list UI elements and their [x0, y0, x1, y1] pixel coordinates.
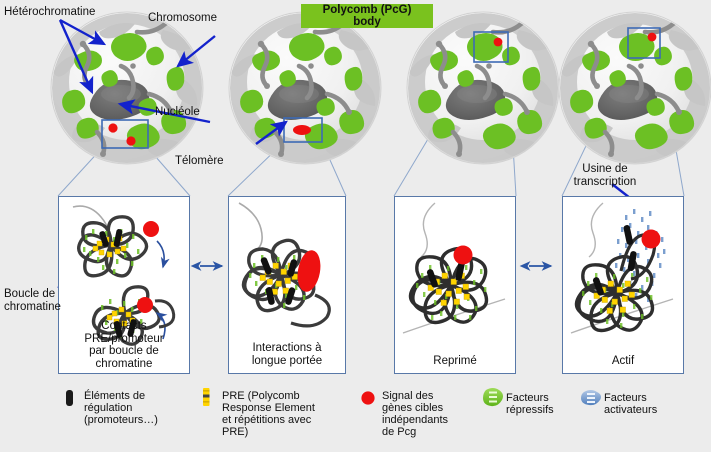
red-signal-dot	[648, 33, 657, 42]
label-telomere: Télomère	[175, 155, 224, 168]
panel-4-caption: Actif	[563, 355, 683, 368]
red-signal-ellipse	[293, 125, 311, 135]
rosette-upper	[79, 217, 147, 276]
label-polycomb-body: Polycomb (PcG) body	[301, 4, 433, 28]
label-chromosome: Chromosome	[148, 12, 217, 25]
panel-1-caption: Contacts PRE/promoteur par boucle de chr…	[59, 320, 189, 370]
panel-long-range-interactions[interactable]: Interactions à longue portée	[228, 196, 346, 374]
panel-repressed[interactable]: Reprimé	[394, 196, 516, 374]
legend-label-activating: Facteurs activateurs	[604, 392, 657, 416]
panel-2-caption: Interactions à longue portée	[229, 342, 345, 367]
red-signal-dot	[143, 221, 159, 237]
yellow-bar-icon	[203, 388, 210, 406]
legend-label-pre: PRE (Polycomb Response Element et répéti…	[222, 390, 315, 438]
blue-factor-icon	[581, 390, 601, 405]
red-signal-dot	[126, 136, 135, 145]
panel-4-graphic	[563, 197, 683, 373]
legend-label-signal: Signal des gènes cibles indépendants de …	[382, 390, 448, 438]
legend-label-repressive: Facteurs répressifs	[506, 392, 554, 416]
label-nucleole: Nucléole	[155, 106, 200, 119]
red-signal-dot	[642, 230, 661, 249]
nucleus-heterochromatin[interactable]	[51, 12, 203, 164]
rosette	[410, 249, 486, 323]
red-signal-dot	[454, 246, 473, 265]
nucleus-transcription-factory[interactable]	[559, 12, 711, 164]
legend: Éléments de régulation (promoteurs…) PRE…	[0, 380, 711, 452]
panel-3-graphic	[395, 197, 515, 373]
figure-canvas: Contacts PRE/promoteur par boucle de chr…	[0, 0, 711, 452]
rosette	[576, 257, 652, 331]
red-signal-dot	[494, 38, 503, 47]
panel-active[interactable]: Actif	[562, 196, 684, 374]
legend-label-regulatory: Éléments de régulation (promoteurs…)	[84, 390, 158, 426]
nucleus-pcg-body[interactable]	[407, 12, 559, 164]
green-factor-icon	[483, 388, 503, 406]
red-signal-dot	[137, 297, 153, 313]
black-bar-icon	[66, 390, 73, 406]
label-boucle-chromatine: Boucle de chromatine	[4, 288, 61, 313]
label-usine-transcription: Usine de transcription	[545, 163, 665, 188]
red-dot-icon	[361, 391, 374, 404]
panel-chromatin-loop-contacts[interactable]: Contacts PRE/promoteur par boucle de chr…	[58, 196, 190, 374]
red-signal-dot	[108, 123, 117, 132]
nucleus-row	[51, 12, 711, 164]
panel-3-caption: Reprimé	[395, 355, 515, 368]
label-heterochromatine: Hétérochromatine	[4, 6, 95, 19]
nucleus-telomere[interactable]	[229, 12, 381, 164]
